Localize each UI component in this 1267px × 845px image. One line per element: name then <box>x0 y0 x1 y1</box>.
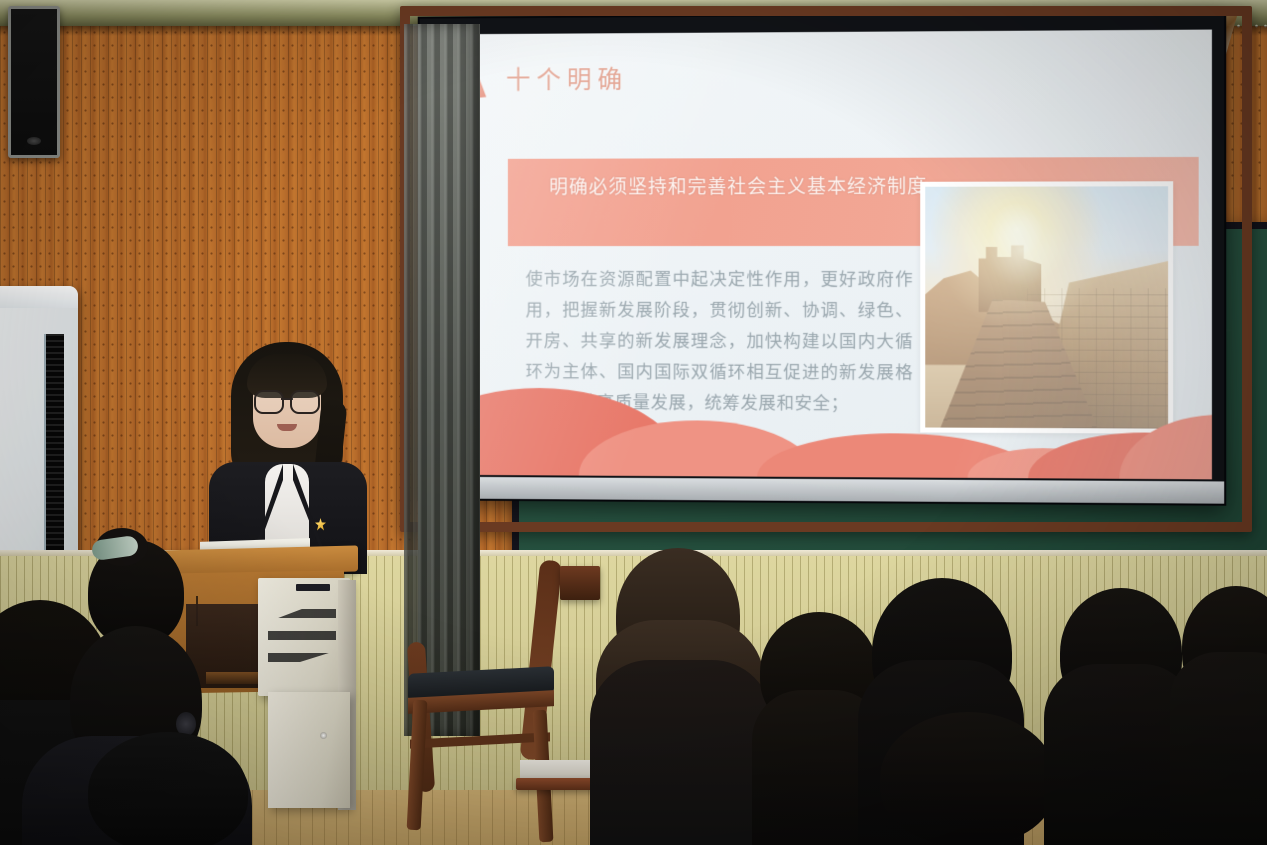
slide-title: 十个明确 <box>506 60 628 96</box>
slide-header: 十个明确 <box>459 55 628 101</box>
slide-mountain-decoration <box>431 384 1212 480</box>
speaker-cone <box>27 137 41 145</box>
air-conditioner <box>0 286 78 586</box>
screen-bottom-bar <box>420 477 1225 504</box>
cabinet-nameplate <box>296 584 330 591</box>
desk-back-left <box>560 566 600 600</box>
projection-screen-frame: 十个明确 明确必须坚持和完善社会主义基本经济制度 使市场在资源配置中起决定性作用… <box>418 11 1227 505</box>
cabinet-vent-slots <box>268 596 336 672</box>
wall-speaker-icon <box>8 6 60 158</box>
lecture-hall-scene: 十个明确 明确必须坚持和完善社会主义基本经济制度 使市场在资源配置中起决定性作用… <box>0 0 1267 845</box>
slide-banner-text: 明确必须坚持和完善社会主义基本经济制度 <box>549 172 977 204</box>
cabinet-lock-knob <box>320 732 327 739</box>
attendee-far-right-body <box>1170 652 1267 845</box>
equipment-cabinet-lower <box>268 692 350 808</box>
ac-vent <box>44 334 64 552</box>
attendee-center-shoulders <box>590 660 772 845</box>
presenter <box>205 342 370 572</box>
eyeglasses-icon <box>253 390 321 410</box>
equipment-cabinet <box>258 578 350 696</box>
empty-chair <box>412 560 580 842</box>
projection-screen: 十个明确 明确必须坚持和完善社会主义基本经济制度 使市场在资源配置中起决定性作用… <box>431 30 1212 480</box>
ac-top-panel <box>0 286 78 308</box>
attendee-front-center <box>880 712 1056 845</box>
attendee-front-left <box>88 732 248 845</box>
